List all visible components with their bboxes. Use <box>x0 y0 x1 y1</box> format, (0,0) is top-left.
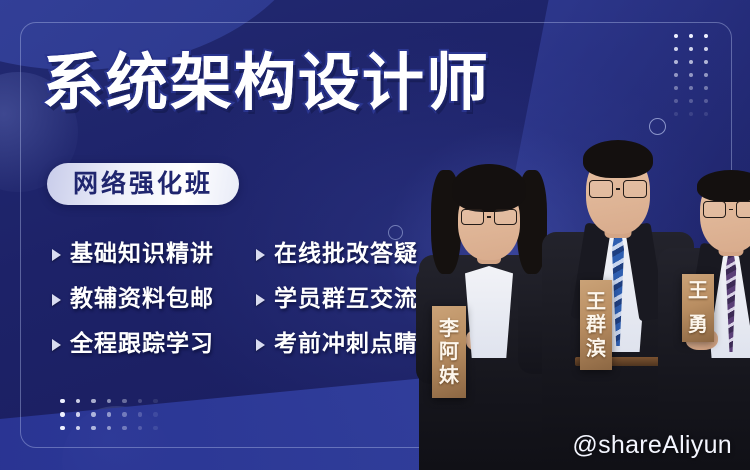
dot-grid-bottom-left-icon <box>60 399 158 431</box>
instructor-nameplate-1: 李阿妹 <box>432 306 466 398</box>
grid-dot <box>704 86 708 90</box>
triangle-right-icon <box>52 339 61 351</box>
instructor-name-char: 群 <box>586 313 606 337</box>
grid-dot <box>674 73 678 77</box>
instructor-name-char: 妹 <box>439 364 459 388</box>
feature-item-label: 学员群互交流 <box>274 288 418 311</box>
grid-dot <box>138 399 143 404</box>
grid-dot <box>153 399 158 404</box>
grid-dot <box>153 426 158 431</box>
grid-dot <box>704 73 708 77</box>
feature-item-label: 考前冲刺点睛 <box>274 333 418 356</box>
grid-dot <box>704 47 708 51</box>
page-title: 系统架构设计师 <box>42 52 490 114</box>
grid-dot <box>60 399 65 404</box>
instructor-nameplate-3: 王勇 <box>682 274 714 342</box>
feature-item-label: 全程跟踪学习 <box>70 333 214 356</box>
feature-item-label: 教辅资料包邮 <box>70 288 214 311</box>
feature-list: 基础知识精讲在线批改答疑教辅资料包邮学员群互交流全程跟踪学习考前冲刺点睛 <box>52 243 452 356</box>
instructor-photo-group: 李阿妹 王群滨 王勇 <box>420 110 750 470</box>
instructor-name-char: 王 <box>586 290 606 314</box>
feature-item: 教辅资料包邮 <box>52 288 242 311</box>
grid-dot <box>689 47 693 51</box>
instructor-name-char: 滨 <box>586 337 606 361</box>
ring-circle-icon-2 <box>388 225 403 240</box>
grid-dot <box>91 426 96 431</box>
grid-dot <box>138 412 143 417</box>
feature-item: 全程跟踪学习 <box>52 333 242 356</box>
triangle-right-icon <box>52 294 61 306</box>
grid-dot <box>704 60 708 64</box>
instructor-name-char: 阿 <box>439 340 459 364</box>
triangle-right-icon <box>256 339 265 351</box>
grid-dot <box>76 426 81 431</box>
grid-dot <box>704 99 708 103</box>
grid-dot <box>107 426 112 431</box>
triangle-right-icon <box>256 294 265 306</box>
feature-item: 基础知识精讲 <box>52 243 242 266</box>
grid-dot <box>704 34 708 38</box>
grid-dot <box>76 399 81 404</box>
instructor-nameplate-2: 王群滨 <box>580 280 612 370</box>
grid-dot <box>153 412 158 417</box>
grid-dot <box>60 412 65 417</box>
grid-dot <box>689 99 693 103</box>
grid-dot <box>674 99 678 103</box>
grid-dot <box>122 426 127 431</box>
grid-dot <box>689 60 693 64</box>
feature-item-label: 在线批改答疑 <box>274 243 418 266</box>
instructor-name-char: 勇 <box>688 313 708 337</box>
grid-dot <box>674 86 678 90</box>
grid-dot <box>107 399 112 404</box>
instructor-name-char: 李 <box>439 317 459 341</box>
grid-dot <box>689 73 693 77</box>
grid-dot <box>122 412 127 417</box>
promo-banner: 系统架构设计师 系统架构设计师 网络强化班 基础知识精讲在线批改答疑教辅资料包邮… <box>0 0 750 470</box>
triangle-right-icon <box>256 249 265 261</box>
grid-dot <box>91 399 96 404</box>
grid-dot <box>138 426 143 431</box>
course-type-badge-label: 网络强化班 <box>73 171 213 196</box>
grid-dot <box>689 86 693 90</box>
grid-dot <box>674 47 678 51</box>
grid-dot <box>674 60 678 64</box>
triangle-right-icon <box>52 249 61 261</box>
grid-dot <box>107 412 112 417</box>
grid-dot <box>689 34 693 38</box>
course-type-badge: 网络强化班 <box>47 163 239 205</box>
grid-dot <box>60 426 65 431</box>
grid-dot <box>122 399 127 404</box>
dot-grid-top-right-icon <box>674 34 708 116</box>
watermark-label: @shareAliyun <box>572 431 732 460</box>
grid-dot <box>674 34 678 38</box>
grid-dot <box>76 412 81 417</box>
feature-item-label: 基础知识精讲 <box>70 243 214 266</box>
grid-dot <box>91 412 96 417</box>
instructor-name-char: 王 <box>688 279 708 303</box>
